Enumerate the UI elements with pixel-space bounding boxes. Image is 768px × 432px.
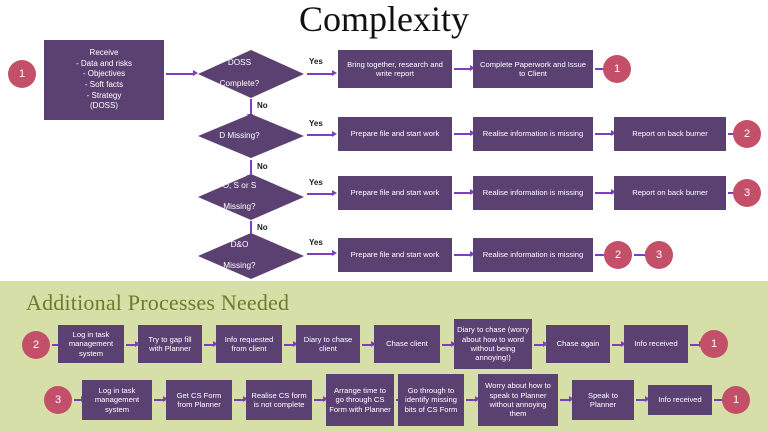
decision-do-missing-line1: D&O [215, 240, 264, 250]
arrow-do-missing-yes [307, 253, 333, 255]
process-box-get-cs-form-from-planner[interactable]: Get CS Form from Planner [166, 380, 232, 420]
process-box-arrange-time-go-through-cs-form-planner[interactable]: Arrange time to go through CS Form with … [326, 374, 394, 426]
decision-oss-missing-line2: Missing? [215, 202, 264, 212]
arrow-row1-1 [454, 68, 471, 70]
connector-circle-start-1[interactable]: 1 [8, 60, 36, 88]
section-title-additional-processes: Additional Processes Needed [26, 290, 289, 316]
process-box-prepare-file-start-work-row4[interactable]: Prepare file and start work [338, 238, 452, 272]
connector-circle-row4-end-2[interactable]: 2 [604, 241, 632, 269]
process-box-complete-paperwork-issue-client[interactable]: Complete Paperwork and Issue to Client [473, 50, 593, 88]
arrow-receive-to-doss [166, 73, 194, 75]
process-box-report-on-back-burner-row2[interactable]: Report on back burner [614, 117, 726, 151]
process-box-diary-to-chase-client[interactable]: Diary to chase client [296, 325, 360, 363]
edge-label-no-oss-missing: No [257, 223, 268, 232]
edge-label-yes-oss-missing: Yes [309, 178, 323, 187]
connector-circle-row2-end-2[interactable]: 2 [733, 120, 761, 148]
process-box-bring-together-research-write-report[interactable]: Bring together, research and write repor… [338, 50, 452, 88]
lead-line-2: - Objectives [83, 69, 125, 80]
arrow-rowA-7 [612, 344, 622, 346]
arrow-row3-2 [595, 192, 612, 194]
process-box-diary-to-chase-worry-wording[interactable]: Diary to chase (worry about how to word … [454, 319, 532, 369]
flowchart-canvas: Complexity Additional Processes Needed 1… [0, 0, 768, 432]
decision-oss-missing[interactable]: O, S or S Missing? [198, 174, 304, 220]
decision-doss-complete[interactable]: DOSS Complete? [198, 50, 304, 98]
process-box-prepare-file-start-work-row2[interactable]: Prepare file and start work [338, 117, 452, 151]
arrow-rowB-7 [636, 399, 646, 401]
process-box-worry-how-speak-planner-without-annoying[interactable]: Worry about how to speak to Planner with… [478, 374, 558, 426]
arrow-rowA-2 [204, 344, 214, 346]
process-box-info-received-a[interactable]: Info received [624, 325, 688, 363]
arrow-d-missing-yes [307, 134, 333, 136]
edge-label-yes-do-missing: Yes [309, 238, 323, 247]
arrow-row3-1 [454, 192, 471, 194]
process-box-chase-again[interactable]: Chase again [546, 325, 610, 363]
page-title: Complexity [0, 0, 768, 40]
process-box-report-on-back-burner-row3[interactable]: Report on back burner [614, 176, 726, 210]
process-box-chase-client[interactable]: Chase client [374, 325, 440, 363]
connector-circle-rowB-end-1[interactable]: 1 [722, 386, 750, 414]
arrow-d-missing-no [250, 160, 252, 176]
arrow-rowA-4 [362, 344, 372, 346]
connector-circle-row3-end-3[interactable]: 3 [733, 179, 761, 207]
edge-label-yes-d-missing: Yes [309, 119, 323, 128]
lead-line-4: - Strategy [87, 91, 122, 102]
decision-doss-complete-line2: Complete? [215, 79, 264, 89]
decision-doss-complete-line1: DOSS [215, 58, 264, 68]
decision-do-missing[interactable]: D&O Missing? [198, 233, 304, 279]
arrow-rowA-6 [534, 344, 544, 346]
process-box-realise-information-missing-row2[interactable]: Realise information is missing [473, 117, 593, 151]
arrow-rowB-0 [74, 399, 82, 401]
arrow-row2-1 [454, 133, 471, 135]
process-box-go-through-identify-missing-bits-cs-form[interactable]: Go through to identify missing bits of C… [398, 374, 464, 426]
arrow-rowB-5 [466, 399, 476, 401]
process-box-speak-to-planner[interactable]: Speak to Planner [572, 380, 634, 420]
arrow-rowA-3 [284, 344, 294, 346]
process-box-info-requested-from-client[interactable]: Info requested from client [216, 325, 282, 363]
connector-circle-rowA-start-2[interactable]: 2 [22, 331, 50, 359]
arrow-rowB-1 [154, 399, 164, 401]
decision-oss-missing-line1: O, S or S [215, 181, 264, 191]
process-box-info-received-b[interactable]: Info received [648, 385, 712, 415]
process-box-log-in-task-management-system-a[interactable]: Log in task management system [58, 325, 124, 363]
decision-d-missing-line1: D Missing? [215, 131, 264, 141]
arrow-rowB-6 [560, 399, 570, 401]
arrow-rowA-1 [126, 344, 136, 346]
process-box-realise-information-missing-row3[interactable]: Realise information is missing [473, 176, 593, 210]
arrow-oss-missing-yes [307, 193, 333, 195]
arrow-doss-no [250, 99, 252, 115]
arrow-rowB-3 [314, 399, 324, 401]
lead-line-1: - Data and risks [76, 59, 132, 70]
connector-circle-row4-end-3[interactable]: 3 [645, 241, 673, 269]
lead-line-0: Receive [90, 48, 119, 59]
connector-circle-rowB-start-3[interactable]: 3 [44, 386, 72, 414]
edge-label-no-d-missing: No [257, 162, 268, 171]
process-box-realise-information-missing-row4[interactable]: Realise information is missing [473, 238, 593, 272]
process-box-realise-cs-form-not-complete[interactable]: Realise CS form is not complete [246, 380, 312, 420]
lead-line-5: (DOSS) [90, 101, 118, 112]
arrow-doss-yes [307, 73, 333, 75]
process-box-receive-doss[interactable]: Receive - Data and risks - Objectives - … [44, 40, 164, 120]
process-box-log-in-task-management-system-b[interactable]: Log in task management system [82, 380, 152, 420]
arrow-row4-1 [454, 254, 471, 256]
connector-circle-row1-end-1[interactable]: 1 [603, 55, 631, 83]
edge-label-yes-doss: Yes [309, 57, 323, 66]
arrow-rowA-5 [442, 344, 452, 346]
arrow-rowB-2 [234, 399, 244, 401]
decision-d-missing[interactable]: D Missing? [198, 114, 304, 158]
process-box-prepare-file-start-work-row3[interactable]: Prepare file and start work [338, 176, 452, 210]
process-box-try-gap-fill-with-planner[interactable]: Try to gap fill with Planner [138, 325, 202, 363]
decision-do-missing-line2: Missing? [215, 261, 264, 271]
arrow-rowA-8 [690, 344, 700, 346]
connector-circle-rowA-end-1[interactable]: 1 [700, 330, 728, 358]
edge-label-no-doss: No [257, 101, 268, 110]
lead-line-3: - Soft facts [85, 80, 123, 91]
arrow-row2-2 [595, 133, 612, 135]
